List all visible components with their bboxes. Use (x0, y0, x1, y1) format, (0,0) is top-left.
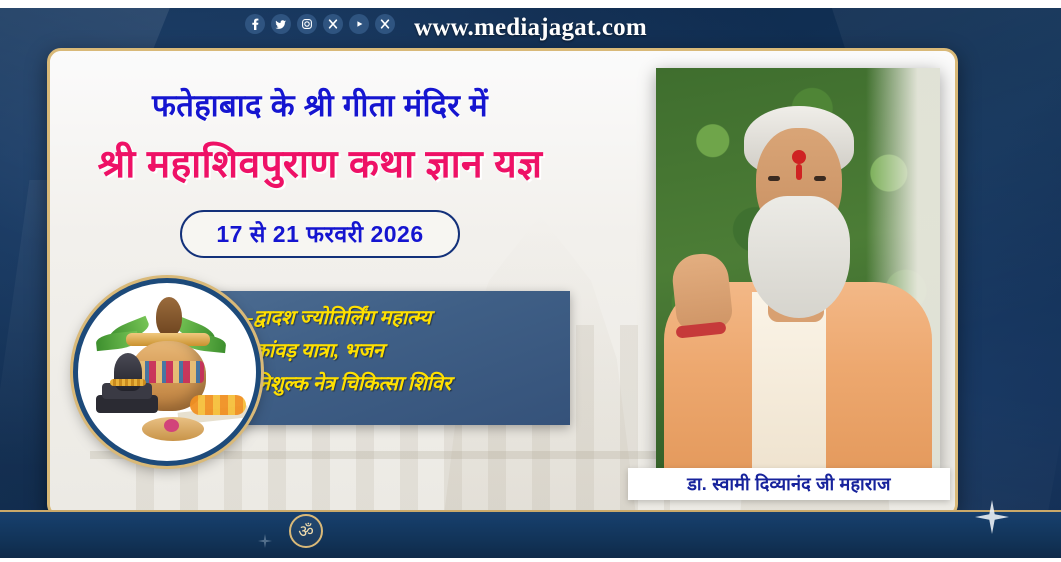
instagram-icon[interactable] (297, 14, 317, 34)
rose-flower (164, 419, 179, 432)
coconut-icon (156, 297, 182, 337)
eye (814, 176, 826, 181)
twitter-icon[interactable] (271, 14, 291, 34)
beard (748, 196, 850, 318)
event-poster: www.mediajagat.com फतेहाबाद के श्री गीता… (0, 0, 1061, 562)
x-icon[interactable] (323, 14, 343, 34)
program-item: -निशुल्क नेत्र चिकित्सा शिविर (247, 368, 587, 401)
program-item: -द्वादश ज्योतिर्लिंग महात्म्य (247, 302, 587, 335)
youtube-icon[interactable] (349, 14, 369, 34)
puja-kalash-image (73, 278, 261, 466)
program-item: -कांवड़ यात्रा, भजन (247, 335, 587, 368)
tilak-dot-icon (792, 150, 806, 164)
bottom-white-strip (0, 558, 1061, 562)
event-date-wrap: 17 से 21 फरवरी 2026 (0, 210, 640, 258)
facebook-icon[interactable] (245, 14, 265, 34)
tilak-line-icon (796, 164, 802, 180)
social-icon-row (0, 8, 640, 40)
program-list: -द्वादश ज्योतिर्लिंग महात्म्य -कांवड़ या… (247, 302, 587, 401)
headline-line-1: फतेहाबाद के श्री गीता मंदिर में (0, 84, 640, 126)
marigold-flowers (190, 395, 246, 415)
headline-line-2: श्री महाशिवपुराण कथा ज्ञान यज्ञ (0, 136, 640, 189)
event-date-badge: 17 से 21 फरवरी 2026 (180, 210, 459, 258)
speaker-photo (656, 68, 940, 472)
bottom-bar (0, 510, 1061, 558)
shivling-garland (110, 379, 146, 386)
x-alt-icon[interactable] (375, 14, 395, 34)
om-icon: ॐ (289, 514, 323, 548)
top-white-strip (0, 0, 1061, 8)
eye (768, 176, 780, 181)
speaker-name-banner: डा. स्वामी दिव्यानंद जी महाराज (628, 468, 950, 500)
